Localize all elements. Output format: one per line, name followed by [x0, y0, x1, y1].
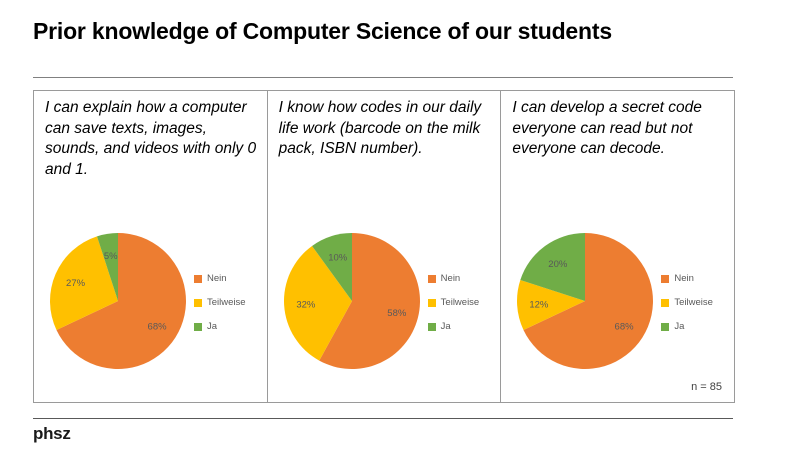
legend-swatch-nein: [428, 275, 436, 283]
panel-3-question: I can develop a secret code everyone can…: [512, 98, 726, 160]
slide-root: Prior knowledge of Computer Science of o…: [0, 0, 800, 450]
panel-1: I can explain how a computer can save te…: [34, 91, 268, 402]
legend-item-nein[interactable]: Nein: [194, 273, 268, 284]
panel-3-pie: 68%12%20%: [515, 231, 655, 381]
panel-2-question: I know how codes in our daily life work …: [279, 98, 493, 160]
legend-swatch-ja: [428, 323, 436, 331]
legend-label-ja: Ja: [441, 321, 451, 332]
panel-1-chart-area: 68%27%5% Nein Teilweise Ja: [34, 231, 267, 396]
legend-swatch-teilweise: [428, 299, 436, 307]
legend-item-teilweise[interactable]: Teilweise: [194, 297, 268, 308]
legend-swatch-ja: [661, 323, 669, 331]
legend-item-teilweise[interactable]: Teilweise: [661, 297, 734, 308]
pie-chart-2: 58%32%10%: [282, 231, 422, 371]
legend-swatch-nein: [661, 275, 669, 283]
pie-chart-1: 68%27%5%: [48, 231, 188, 371]
pie-slice-label-teilweise: 32%: [296, 299, 316, 310]
legend-swatch-teilweise: [661, 299, 669, 307]
legend-label-ja: Ja: [207, 321, 217, 332]
legend-item-nein[interactable]: Nein: [428, 273, 502, 284]
panel-1-question: I can explain how a computer can save te…: [45, 98, 259, 180]
pie-slice-label-ja: 5%: [104, 251, 118, 262]
legend-item-nein[interactable]: Nein: [661, 273, 734, 284]
panel-2: I know how codes in our daily life work …: [268, 91, 502, 402]
footer-divider: [33, 418, 733, 419]
legend-label-ja: Ja: [674, 321, 684, 332]
legend-item-ja[interactable]: Ja: [428, 321, 502, 332]
legend-label-nein: Nein: [441, 273, 461, 284]
panel-1-legend: Nein Teilweise Ja: [194, 273, 268, 345]
legend-item-ja[interactable]: Ja: [194, 321, 268, 332]
legend-item-teilweise[interactable]: Teilweise: [428, 297, 502, 308]
legend-item-ja[interactable]: Ja: [661, 321, 734, 332]
pie-slice-label-ja: 10%: [328, 253, 348, 264]
legend-swatch-nein: [194, 275, 202, 283]
panels-container: I can explain how a computer can save te…: [33, 90, 735, 403]
pie-slice-label-teilweise: 12%: [530, 299, 550, 310]
legend-label-nein: Nein: [674, 273, 694, 284]
panel-3-legend: Nein Teilweise Ja: [661, 273, 734, 345]
panel-2-chart-area: 58%32%10% Nein Teilweise Ja: [268, 231, 501, 396]
legend-label-teilweise: Teilweise: [441, 297, 480, 308]
sample-size-note: n = 85: [691, 381, 722, 393]
footer-logo: phsz: [33, 424, 71, 444]
panel-1-pie: 68%27%5%: [48, 231, 188, 381]
legend-label-nein: Nein: [207, 273, 227, 284]
pie-chart-3: 68%12%20%: [515, 231, 655, 371]
legend-label-teilweise: Teilweise: [674, 297, 713, 308]
pie-slice-label-nein: 68%: [615, 321, 635, 332]
panel-2-legend: Nein Teilweise Ja: [428, 273, 502, 345]
pie-slice-label-nein: 58%: [387, 308, 407, 319]
pie-slice-label-nein: 68%: [148, 321, 168, 332]
panel-3: I can develop a secret code everyone can…: [501, 91, 734, 402]
legend-swatch-ja: [194, 323, 202, 331]
title-divider: [33, 77, 733, 78]
pie-slice-label-ja: 20%: [549, 259, 569, 270]
pie-slice-label-teilweise: 27%: [66, 278, 86, 289]
legend-label-teilweise: Teilweise: [207, 297, 246, 308]
panel-2-pie: 58%32%10%: [282, 231, 422, 381]
panel-3-chart-area: 68%12%20% Nein Teilweise Ja: [501, 231, 734, 396]
legend-swatch-teilweise: [194, 299, 202, 307]
page-title: Prior knowledge of Computer Science of o…: [33, 18, 753, 45]
